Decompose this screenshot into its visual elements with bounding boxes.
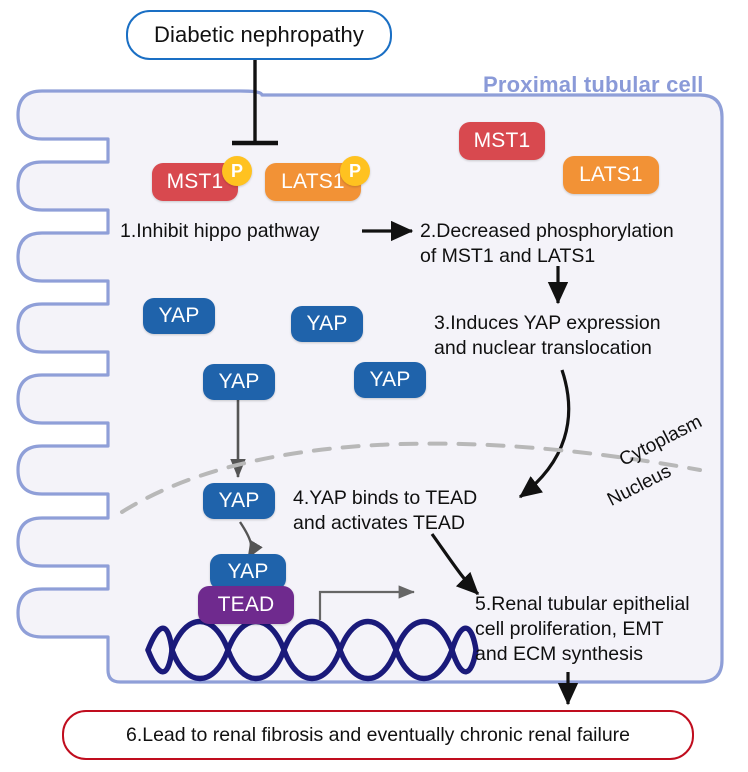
outcome-banner-label: 6.Lead to renal fibrosis and eventually …	[126, 724, 630, 747]
node-mst1-dephosphorylated-label: MST1	[474, 129, 531, 153]
step-2-line-2: of MST1 and LATS1	[420, 244, 674, 269]
node-mst1-phosphorylated-label: MST1	[167, 170, 224, 194]
node-yap-1[interactable]: YAP	[143, 298, 215, 334]
outcome-banner[interactable]: 6.Lead to renal fibrosis and eventually …	[62, 710, 694, 760]
node-yap-complex-label: YAP	[227, 560, 268, 584]
node-mst1-dephosphorylated[interactable]: MST1	[459, 122, 545, 160]
node-yap-2[interactable]: YAP	[291, 306, 363, 342]
node-yap-nuclear-label: YAP	[218, 489, 259, 513]
node-yap-3[interactable]: YAP	[203, 364, 275, 400]
step-5-line-3: and ECM synthesis	[475, 642, 690, 667]
node-tead-complex-label: TEAD	[218, 593, 275, 617]
phospho-icon-lats1: P	[340, 156, 370, 186]
step-5-line-2: cell proliferation, EMT	[475, 617, 690, 642]
pathway-diagram: Proximal tubular cell Diabetic nephropat…	[0, 0, 748, 772]
node-yap-1-label: YAP	[158, 304, 199, 328]
step-4-line-2: and activates TEAD	[293, 511, 477, 536]
node-lats1-phosphorylated-label: LATS1	[281, 170, 345, 194]
phospho-icon-mst1-label: P	[231, 161, 243, 182]
diabetic-nephropathy-label: Diabetic nephropathy	[154, 22, 364, 48]
step-3: 3.Induces YAP expression and nuclear tra…	[434, 311, 661, 361]
node-yap-nuclear[interactable]: YAP	[203, 483, 275, 519]
node-yap-4[interactable]: YAP	[354, 362, 426, 398]
step-1-line-1: 1.Inhibit hippo pathway	[120, 219, 319, 244]
step-2-line-1: 2.Decreased phosphorylation	[420, 219, 674, 244]
diabetic-nephropathy-node[interactable]: Diabetic nephropathy	[126, 10, 392, 60]
node-yap-2-label: YAP	[306, 312, 347, 336]
phospho-icon-mst1: P	[222, 156, 252, 186]
node-lats1-dephosphorylated-label: LATS1	[579, 163, 643, 187]
node-tead-complex[interactable]: TEAD	[198, 586, 294, 624]
step-5-line-1: 5.Renal tubular epithelial	[475, 592, 690, 617]
step-2: 2.Decreased phosphorylation of MST1 and …	[420, 219, 674, 269]
node-lats1-dephosphorylated[interactable]: LATS1	[563, 156, 659, 194]
step-3-line-2: and nuclear translocation	[434, 336, 661, 361]
step-4-line-1: 4.YAP binds to TEAD	[293, 486, 477, 511]
node-yap-4-label: YAP	[369, 368, 410, 392]
node-yap-complex[interactable]: YAP	[210, 554, 286, 590]
node-yap-3-label: YAP	[218, 370, 259, 394]
cell-label: Proximal tubular cell	[483, 72, 704, 98]
phospho-icon-lats1-label: P	[349, 161, 361, 182]
step-4: 4.YAP binds to TEAD and activates TEAD	[293, 486, 477, 536]
step-5: 5.Renal tubular epithelial cell prolifer…	[475, 592, 690, 667]
step-1: 1.Inhibit hippo pathway	[120, 219, 319, 244]
step-3-line-1: 3.Induces YAP expression	[434, 311, 661, 336]
